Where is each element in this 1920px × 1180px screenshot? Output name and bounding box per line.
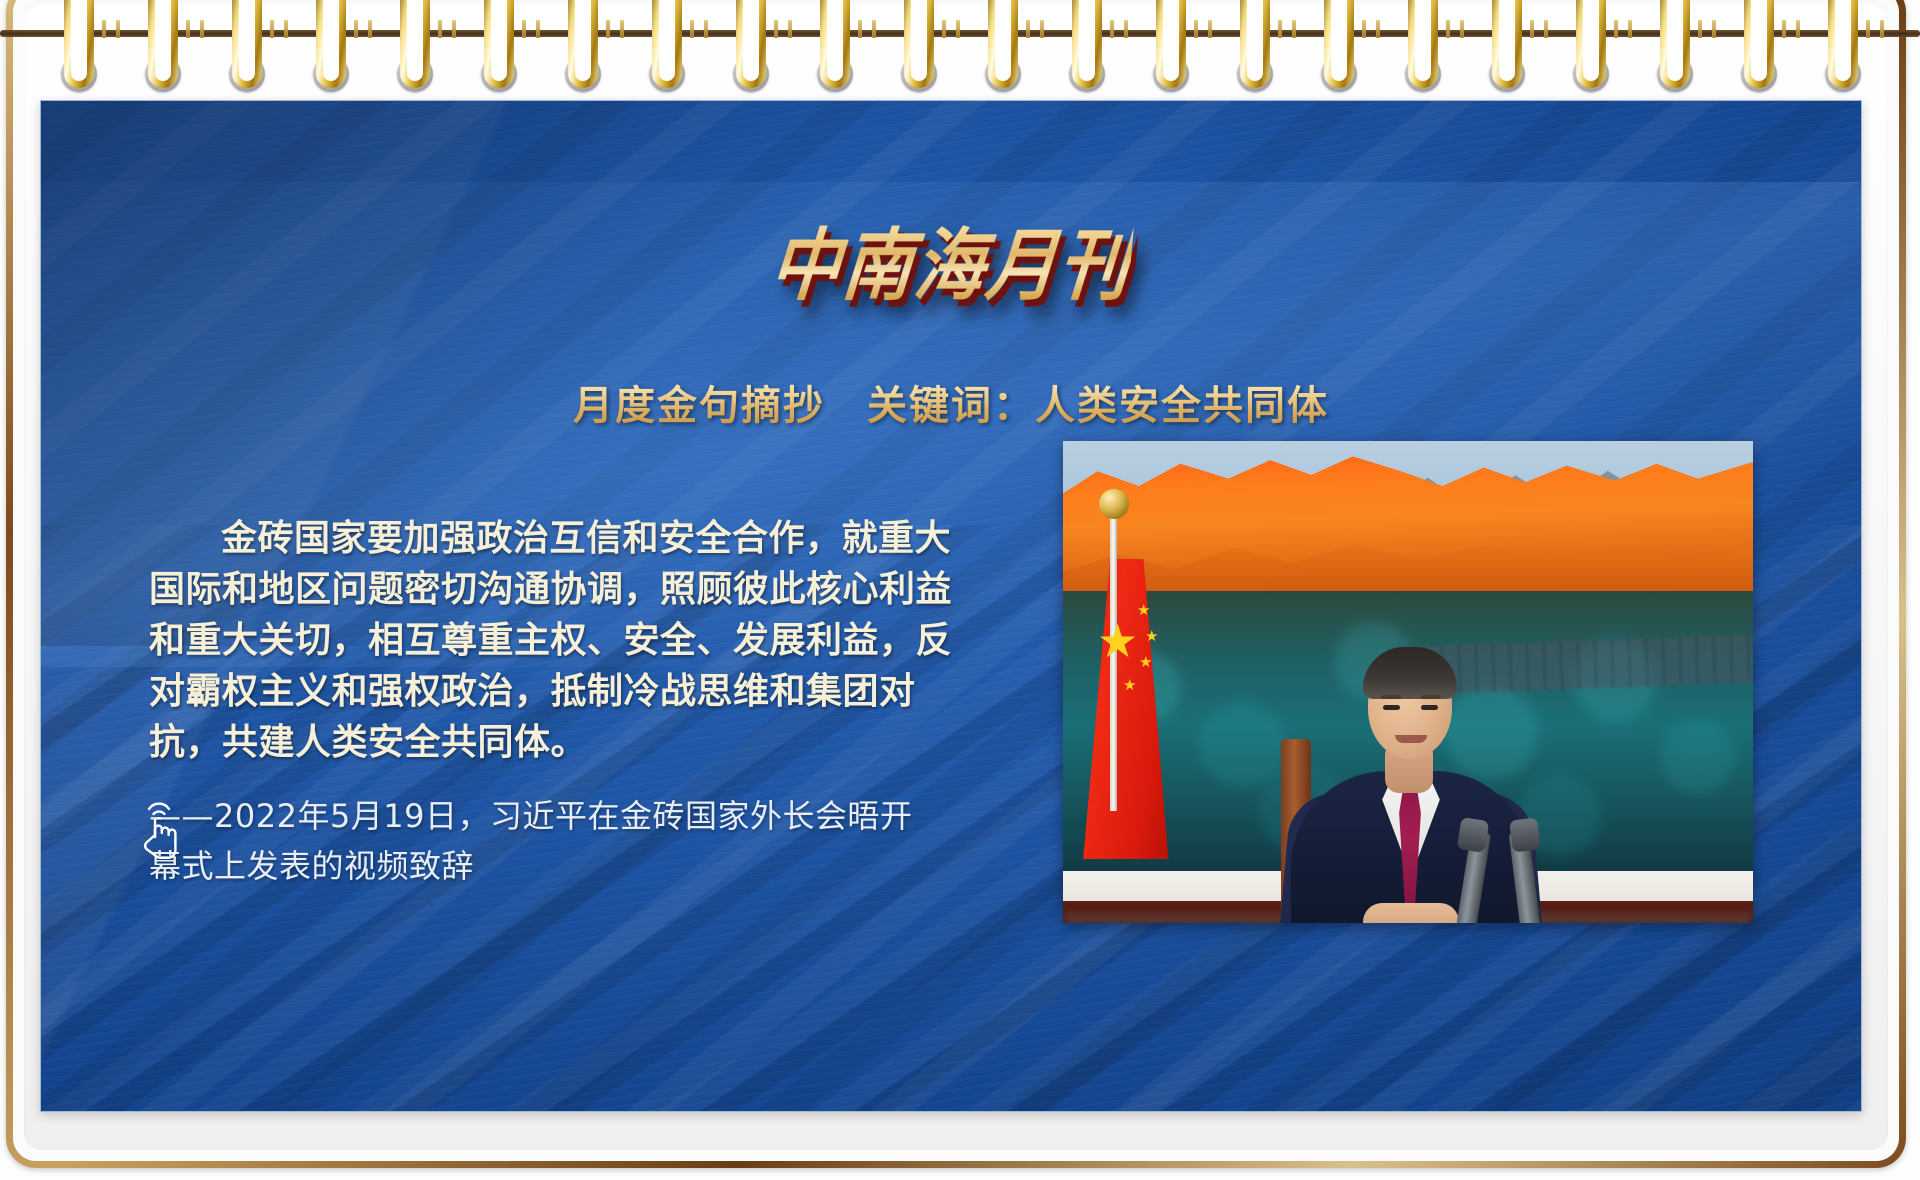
- quote-body: 金砖国家要加强政治互信和安全合作，就重大国际和地区问题密切沟通协调，照顾彼此核心…: [149, 513, 979, 768]
- photo-eye-left: [1383, 705, 1400, 710]
- photo-flag-star-1: ★: [1137, 604, 1150, 619]
- photo-hands: [1363, 903, 1459, 923]
- photo-flag-star-3: ★: [1139, 656, 1152, 671]
- masthead: 中南海月刊: [41, 209, 1861, 310]
- card-content: 中南海月刊 月度金句摘抄 关键词：人类安全共同体 金砖国家要加强政治互信和安全合…: [41, 101, 1861, 1111]
- slide-card: 中南海月刊 月度金句摘抄 关键词：人类安全共同体 金砖国家要加强政治互信和安全合…: [40, 100, 1862, 1112]
- photo-microphone-1-head: [1457, 817, 1490, 853]
- photo-eyebrow-right: [1421, 695, 1441, 699]
- tap-hand-icon[interactable]: [129, 789, 195, 859]
- notebook-page: 中南海月刊 月度金句摘抄 关键词：人类安全共同体 金砖国家要加强政治互信和安全合…: [0, 0, 1920, 1180]
- photo-flag-star-large: ★: [1097, 619, 1138, 665]
- photo-eyebrow-left: [1381, 695, 1401, 699]
- photo-flag-star-2: ★: [1145, 630, 1158, 645]
- quote-source: ——2022年5月19日，习近平在金砖国家外长会晤开幕式上发表的视频致辞: [149, 791, 939, 891]
- subtitle: 月度金句摘抄 关键词：人类安全共同体: [41, 373, 1861, 431]
- photo-eye-right: [1421, 705, 1438, 710]
- photo-microphone-2-head: [1509, 817, 1541, 852]
- speech-photo: ★ ★ ★ ★ ★: [1063, 441, 1753, 923]
- photo-flag-finial: [1099, 489, 1129, 519]
- page-title: 中南海月刊: [766, 203, 1136, 316]
- photo-flag-star-4: ★: [1123, 679, 1136, 694]
- photo-mouth: [1395, 735, 1427, 743]
